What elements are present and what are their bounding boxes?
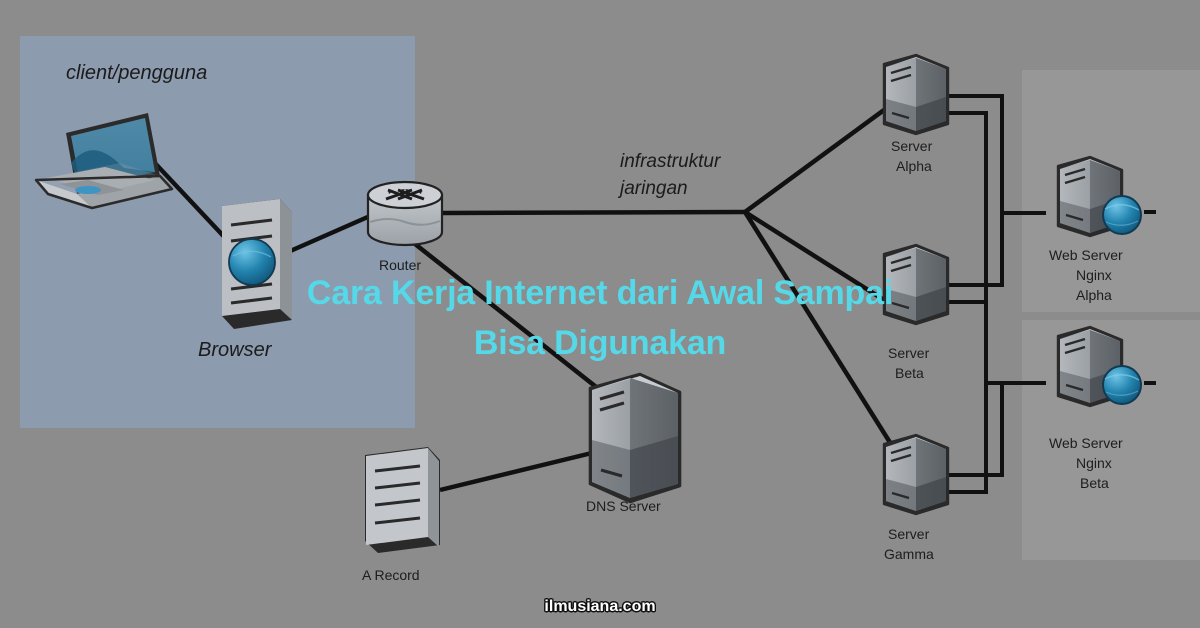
diagram-canvas: Browser Router infrastruktur jaringan [0, 0, 1200, 628]
server-alpha-label-line2: Alpha [896, 158, 932, 174]
server-alpha-icon [884, 55, 948, 134]
browser-window-icon [222, 199, 292, 329]
browser-label: Browser [198, 339, 273, 361]
web-server-beta-label-line2: Nginx [1076, 455, 1112, 471]
server-alpha-label-line1: Server [891, 138, 933, 154]
web-server-beta-label-line3: Beta [1080, 475, 1109, 491]
router-icon [368, 182, 442, 245]
web-server-alpha-label-line3: Alpha [1076, 287, 1112, 303]
router-label: Router [379, 257, 421, 273]
globe-icon [1103, 366, 1141, 404]
server-gamma-label-line1: Server [888, 526, 930, 542]
web-server-beta-label-line1: Web Server [1049, 435, 1123, 451]
a-record-document-icon [365, 447, 440, 553]
server-beta-label-line1: Server [888, 345, 930, 361]
client-label: client/pengguna [66, 62, 207, 84]
web-server-alpha-label-line2: Nginx [1076, 267, 1112, 283]
dns-server-icon [590, 374, 680, 502]
server-beta-label-line2: Beta [895, 365, 924, 381]
web-server-alpha-label-line1: Web Server [1049, 247, 1123, 263]
network-diagram: Browser Router infrastruktur jaringan [0, 0, 1200, 628]
globe-icon [1103, 196, 1141, 234]
dns-server-label: DNS Server [586, 498, 661, 514]
a-record-label: A Record [362, 567, 420, 583]
server-gamma-icon [884, 435, 948, 514]
server-beta-icon [884, 245, 948, 324]
server-gamma-label-line2: Gamma [884, 546, 934, 562]
network-label-line1: infrastruktur [620, 151, 721, 172]
network-label-line2: jaringan [617, 178, 688, 199]
